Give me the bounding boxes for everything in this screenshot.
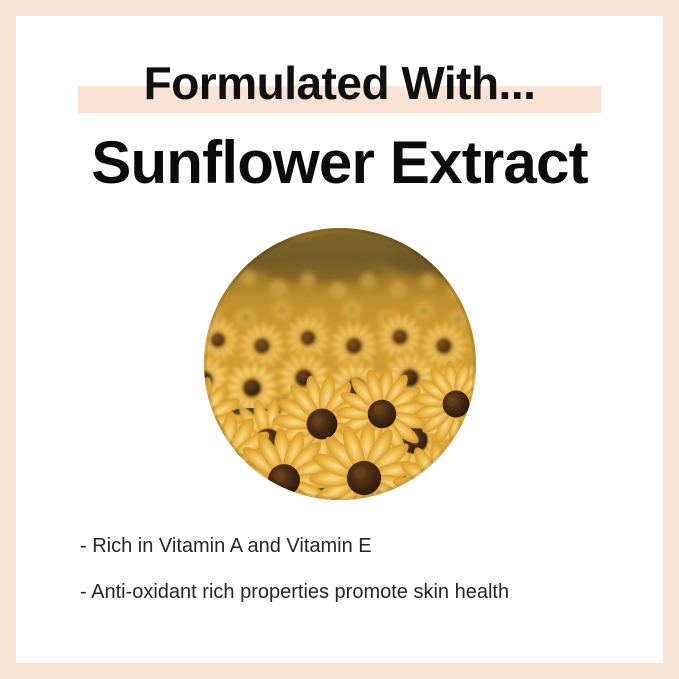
eyebrow-headline-block: Formulated With...: [16, 54, 663, 116]
sunflower-field-illustration: [204, 228, 476, 500]
sunflower-field-photo: [204, 228, 476, 500]
list-item: - Rich in Vitamin A and Vitamin E: [80, 534, 640, 558]
benefits-list: - Rich in Vitamin A and Vitamin E - Anti…: [80, 534, 640, 604]
eyebrow-text: Formulated With...: [16, 54, 663, 112]
product-info-poster: Formulated With... Sunflower Extract: [0, 0, 679, 679]
page-title: Sunflower Extract: [16, 126, 663, 200]
poster-inner-canvas: Formulated With... Sunflower Extract: [16, 16, 663, 663]
list-item: - Anti-oxidant rich properties promote s…: [80, 580, 640, 604]
